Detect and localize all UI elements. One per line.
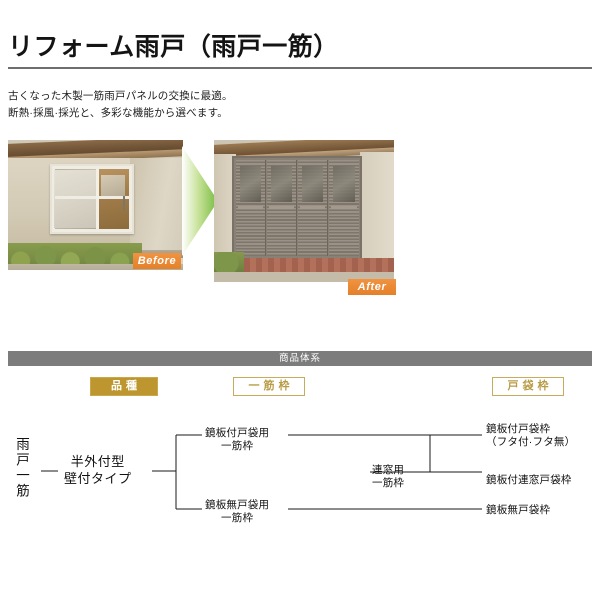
before-mullion-horizontal <box>55 196 129 199</box>
after-louver-panel <box>298 160 328 256</box>
tree-node-frame-without-panel: 鏡板無戸袋用 一筋枠 <box>205 499 269 525</box>
before-photo <box>8 140 183 270</box>
tree-node-type: 半外付型 壁付タイプ <box>64 453 132 487</box>
before-side-wall <box>130 158 183 254</box>
before-after-comparison: Before After <box>8 134 592 309</box>
page-title: リフォーム雨戸（雨戸一筋） <box>8 34 592 62</box>
lead-copy: 古くなった木製一筋雨戸パネルの交換に最適。 断熱·採風·採光と、多彩な機能から選… <box>8 88 233 122</box>
before-sliding-door <box>50 164 134 234</box>
lead-line-2: 断熱·採風·採光と、多彩な機能から選べます。 <box>8 105 233 122</box>
product-system-header: 商品体系 <box>8 351 592 366</box>
tree-node-result1-line2: （フタ付·フタ無） <box>486 436 575 449</box>
tree-node-frame1-line2: 一筋枠 <box>205 440 269 453</box>
tree-node-renmado: 連窓用 一筋枠 <box>372 464 404 490</box>
category-label-hinshu: 品種 <box>90 377 158 396</box>
tree-node-frame2-line1: 鏡板無戸袋用 <box>205 499 269 512</box>
after-panel-rail <box>331 206 357 209</box>
after-panel-rail <box>269 206 294 209</box>
after-panel-window <box>302 166 323 202</box>
tree-node-result-3: 鏡板無戸袋枠 <box>486 504 550 517</box>
before-door-handle <box>123 196 125 210</box>
after-photo <box>214 140 394 282</box>
tree-node-frame1-line1: 鏡板付戸袋用 <box>205 427 269 440</box>
title-block: リフォーム雨戸（雨戸一筋） <box>8 34 592 69</box>
before-mullion-vertical <box>96 169 99 229</box>
category-label-tobukuro: 戸袋枠 <box>492 377 564 396</box>
after-badge: After <box>348 279 396 295</box>
after-louver-panel <box>236 160 266 256</box>
tree-node-result1-line1: 鏡板付戸袋枠 <box>486 423 575 436</box>
before-shoji-screen <box>54 170 96 228</box>
tree-node-renmado-line1: 連窓用 <box>372 464 404 477</box>
after-louver-panel <box>329 160 359 256</box>
product-hierarchy-diagram: 雨戸一筋 半外付型 壁付タイプ 鏡板付戸袋用 一筋枠 鏡板無戸袋用 一筋枠 連窓… <box>0 405 600 565</box>
after-panel-window <box>240 166 261 202</box>
after-right-wall <box>360 152 394 264</box>
lead-line-1: 古くなった木製一筋雨戸パネルの交換に最適。 <box>8 88 233 105</box>
after-louver-panel <box>267 160 297 256</box>
catalog-page: リフォーム雨戸（雨戸一筋） 古くなった木製一筋雨戸パネルの交換に最適。 断熱·採… <box>0 0 600 600</box>
tree-node-result-1: 鏡板付戸袋枠 （フタ付·フタ無） <box>486 423 575 449</box>
tree-node-type-line2: 壁付タイプ <box>64 470 132 487</box>
tree-node-frame-with-panel: 鏡板付戸袋用 一筋枠 <box>205 427 269 453</box>
after-panel-rail <box>238 206 263 209</box>
tree-node-result-2: 鏡板付連窓戸袋枠 <box>486 474 572 487</box>
after-shutter-unit <box>232 156 362 260</box>
before-badge: Before <box>133 253 181 269</box>
tree-node-renmado-line2: 一筋枠 <box>372 477 404 490</box>
after-panel-window <box>271 166 292 202</box>
title-divider <box>8 67 592 69</box>
tree-node-frame2-line2: 一筋枠 <box>205 512 269 525</box>
tree-node-type-line1: 半外付型 <box>64 453 132 470</box>
after-panel-window <box>333 166 355 202</box>
category-label-hitosuji: 一筋枠 <box>233 377 305 396</box>
tree-node-root: 雨戸一筋 <box>14 437 29 532</box>
after-shrub <box>214 252 244 274</box>
after-panel-rail <box>300 206 325 209</box>
